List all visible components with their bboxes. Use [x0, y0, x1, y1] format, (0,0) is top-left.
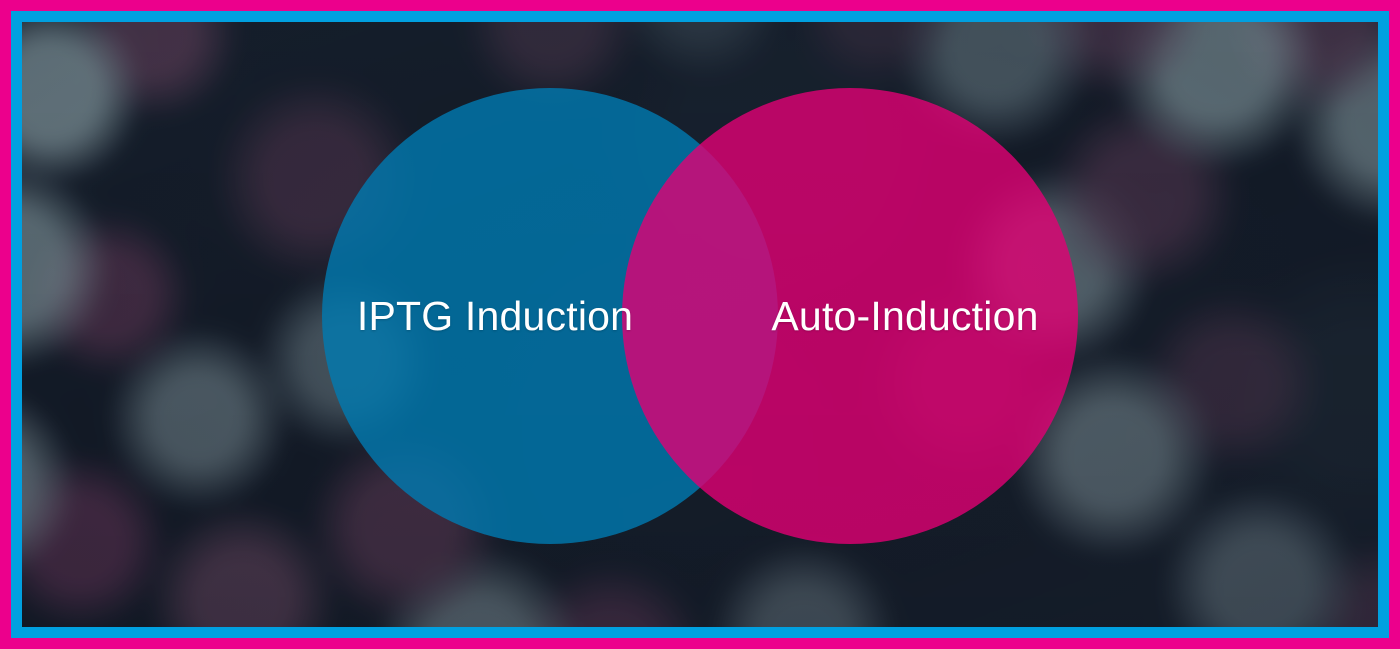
slide-canvas: IPTG Induction Auto-Induction [0, 0, 1400, 649]
venn-diagram: IPTG Induction Auto-Induction [22, 22, 1378, 627]
venn-label-auto-induction: Auto-Induction [677, 88, 1133, 544]
venn-label-iptg-induction: IPTG Induction [267, 88, 723, 544]
content-plate: IPTG Induction Auto-Induction [22, 22, 1378, 627]
